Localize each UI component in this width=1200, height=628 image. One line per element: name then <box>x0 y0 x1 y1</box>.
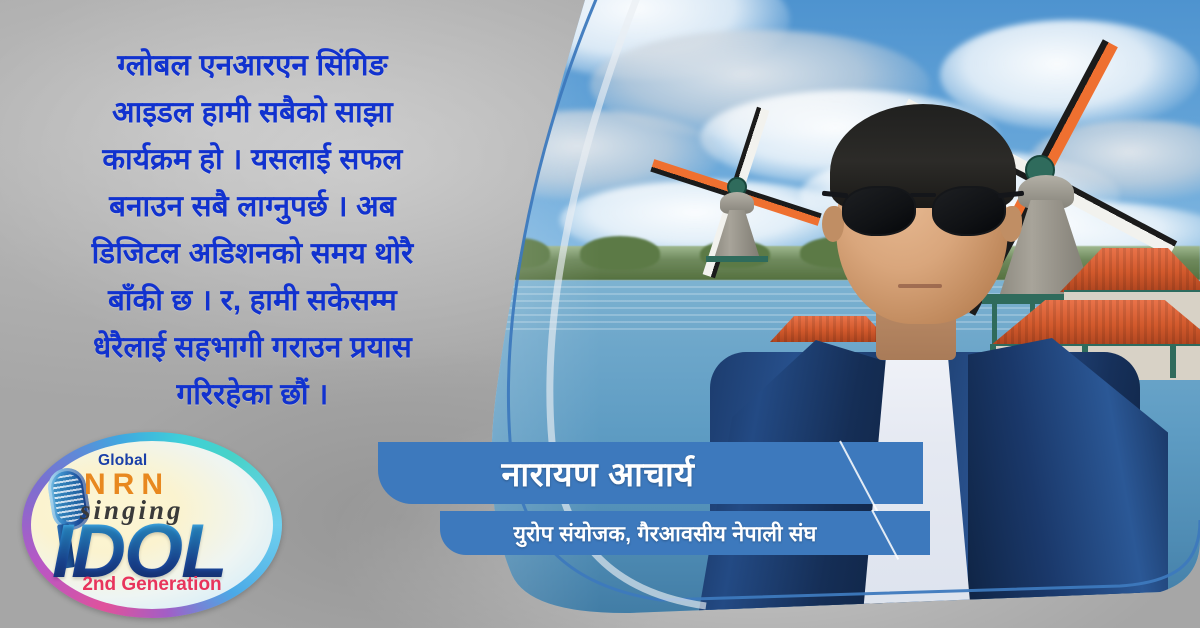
quote-line: डिजिटल अडिशनको समय थोरै <box>0 230 505 277</box>
speaker-role-banner: युरोप संयोजक, गैरआवसीय नेपाली संघ <box>440 511 930 555</box>
quote-line: बाँकी छ । र, हामी सकेसम्म <box>0 277 505 324</box>
promo-card: ग्लोबल एनआरएन सिंगिङ आइडल हामी सबैको साझ… <box>0 0 1200 628</box>
speaker-role: युरोप संयोजक, गैरआवसीय नेपाली संघ <box>513 519 816 548</box>
quote-line: आइडल हामी सबैको साझा <box>0 89 505 136</box>
speaker-name: नारायण आचार्य <box>502 450 695 496</box>
quote-line: धेरैलाई सहभागी गराउन प्रयास <box>0 324 505 371</box>
nrn-singing-idol-logo[interactable]: Global NRN singing IDOL 2nd Generation <box>22 432 282 618</box>
quote-line: बनाउन सबै लाग्नुपर्छ । अब <box>0 183 505 230</box>
speaker-name-banner: नारायण आचार्य <box>378 442 923 504</box>
quote-line: ग्लोबल एनआरएन सिंगिङ <box>0 42 505 89</box>
logo-generation-label: 2nd Generation <box>22 574 282 596</box>
quote-line: कार्यक्रम हो । यसलाई सफल <box>0 136 505 183</box>
quote-line: गरिरहेका छौं । <box>0 371 505 418</box>
quote-text: ग्लोबल एनआरएन सिंगिङ आइडल हामी सबैको साझ… <box>0 42 505 418</box>
